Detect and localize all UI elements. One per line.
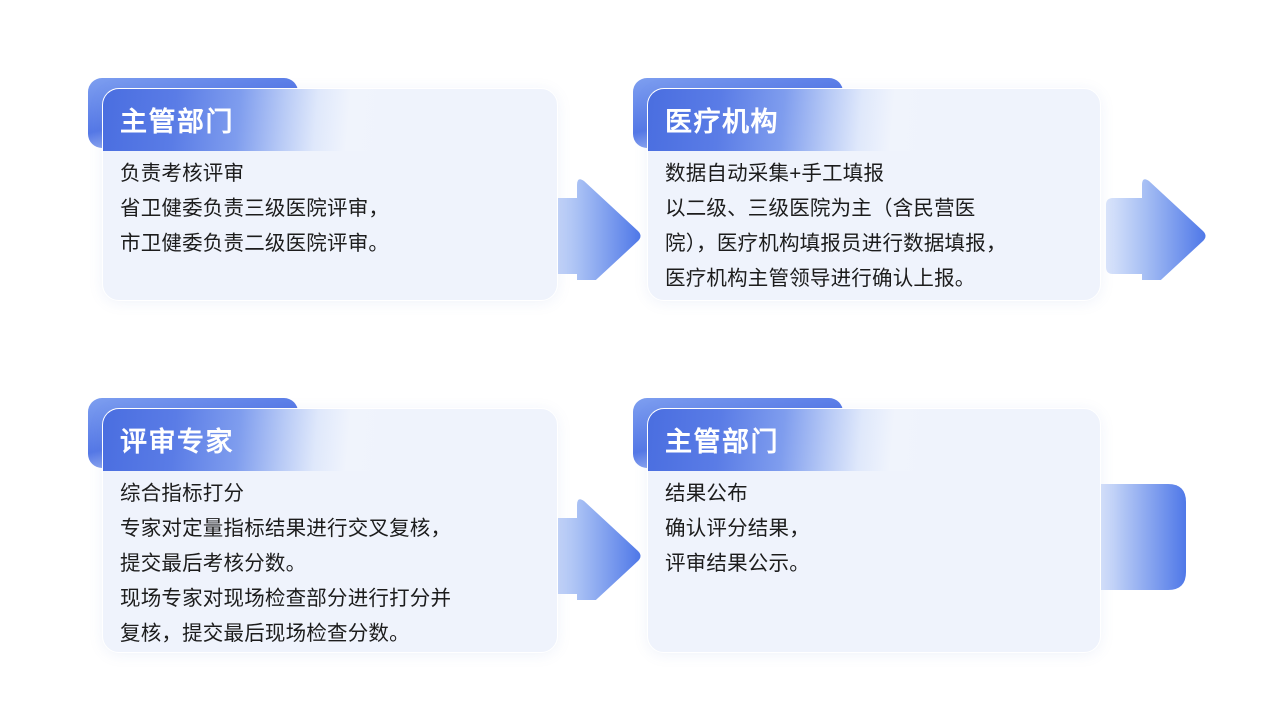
card-body-text: 结果公布 确认评分结果， 评审结果公示。 — [665, 476, 1085, 581]
card-review-expert[interactable]: 评审专家 综合指标打分 专家对定量指标结果进行交叉复核， 提交最后考核分数。 现… — [102, 408, 558, 653]
card-body-text: 综合指标打分 专家对定量指标结果进行交叉复核， 提交最后考核分数。 现场专家对现… — [120, 476, 542, 651]
card-medical-institution[interactable]: 医疗机构 数据自动采集+手工填报 以二级、三级医院为主（含民营医 院），医疗机构… — [647, 88, 1101, 301]
card-title: 主管部门 — [665, 420, 779, 459]
card-title: 医疗机构 — [665, 100, 779, 139]
card-supervising-department[interactable]: 主管部门 负责考核评审 省卫健委负责三级医院评审， 市卫健委负责二级医院评审。 — [102, 88, 558, 301]
arrow-row2-end-clipped — [1094, 484, 1186, 590]
card-body-text: 负责考核评审 省卫健委负责三级医院评审， 市卫健委负责二级医院评审。 — [120, 156, 542, 261]
card-title: 主管部门 — [120, 100, 234, 139]
arrow-row1-end — [1100, 172, 1208, 280]
card-supervising-department-result[interactable]: 主管部门 结果公布 确认评分结果， 评审结果公示。 — [647, 408, 1101, 653]
card-body-text: 数据自动采集+手工填报 以二级、三级医院为主（含民营医 院），医疗机构填报员进行… — [665, 156, 1085, 296]
card-title: 评审专家 — [120, 420, 234, 459]
diagram-canvas: 主管部门 负责考核评审 省卫健委负责三级医院评审， 市卫健委负责二级医院评审。 … — [0, 0, 1280, 720]
